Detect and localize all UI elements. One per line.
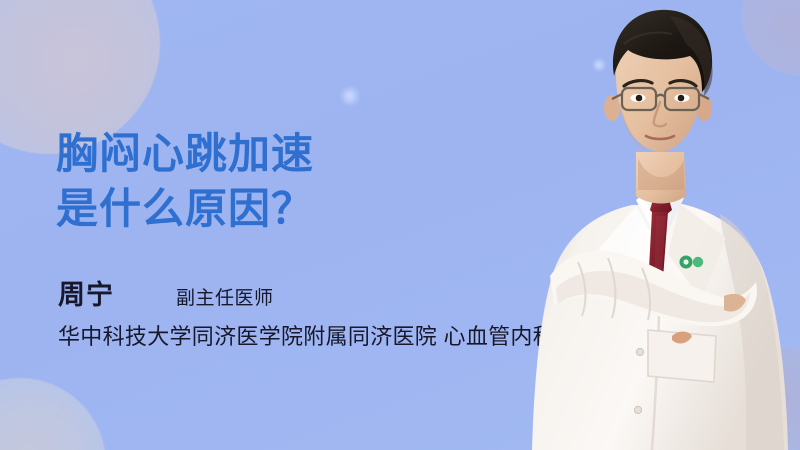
doctor-credit: 周宁 副主任医师 华中科技大学同济医学院附属同济医院 心血管内科 xyxy=(58,282,555,348)
doctor-portrait-illustration xyxy=(520,0,800,450)
doctor-rank: 副主任医师 xyxy=(176,289,274,308)
decor-dot-center xyxy=(340,86,360,106)
decor-circle-bottom-left xyxy=(0,378,106,450)
doctor-portrait xyxy=(520,0,800,450)
doctor-affiliation: 华中科技大学同济医学院附属同济医院 心血管内科 xyxy=(58,326,555,348)
doctor-credit-row: 周宁 副主任医师 xyxy=(58,282,555,316)
neck xyxy=(636,152,686,204)
doctor-head xyxy=(604,10,713,152)
page-title: 胸闷心跳加速 是什么原因？ xyxy=(56,126,314,236)
doctor-name: 周宁 xyxy=(58,282,114,309)
video-cover-slide: 胸闷心跳加速 是什么原因？ 周宁 副主任医师 华中科技大学同济医学院附属同济医院… xyxy=(0,0,800,450)
page-title-line-2: 是什么原因？ xyxy=(56,181,314,236)
page-title-line-1: 胸闷心跳加速 xyxy=(56,126,314,181)
